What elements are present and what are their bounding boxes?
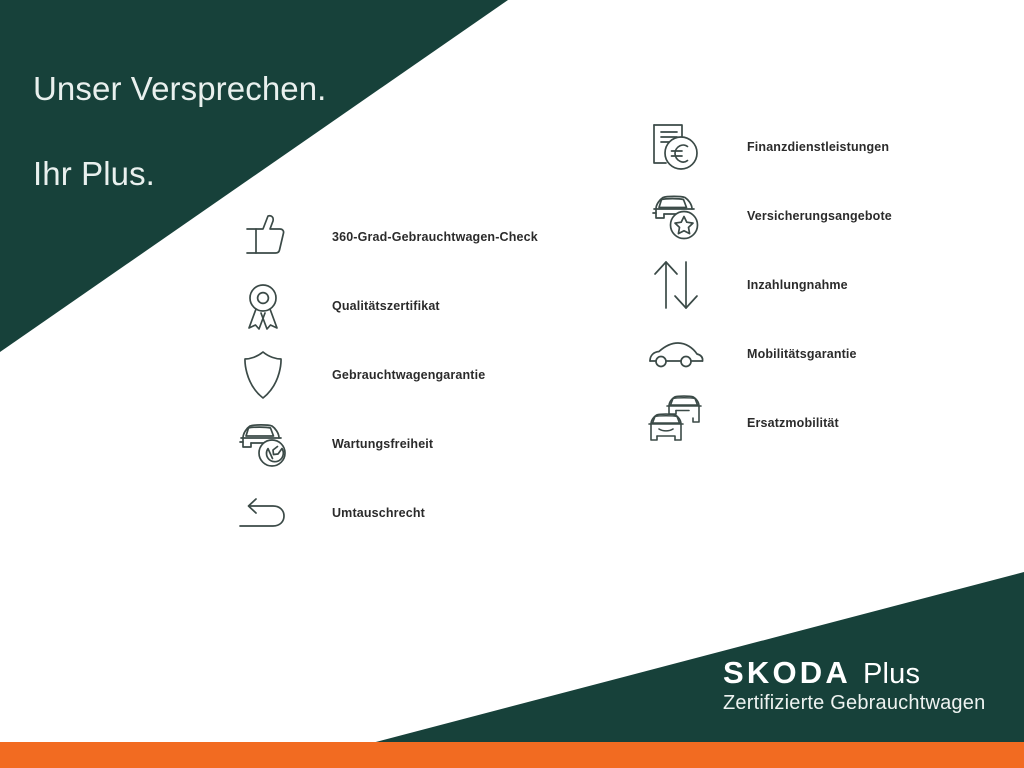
feature-item-warranty: Gebrauchtwagengarantie xyxy=(232,340,632,409)
headline-line-2: Ihr Plus. xyxy=(33,153,326,195)
feature-item-financial-services: Finanzdienstleistungen xyxy=(645,112,1015,181)
thumbs-up-icon xyxy=(232,206,294,268)
brand-suffix: Plus xyxy=(863,658,920,691)
feature-label: Umtauschrecht xyxy=(332,506,425,520)
u-turn-arrow-icon xyxy=(232,482,294,544)
up-down-arrows-icon xyxy=(645,254,707,316)
brand-tagline: Zertifizierte Gebrauchtwagen xyxy=(723,692,985,715)
feature-label: 360-Grad-Gebrauchtwagen-Check xyxy=(332,230,538,244)
feature-label: Mobilitätsgarantie xyxy=(747,347,857,361)
two-cars-icon xyxy=(645,392,707,454)
headline-line-1: Unser Versprechen. xyxy=(33,68,326,110)
feature-item-mobility-guarantee: Mobilitätsgarantie xyxy=(645,319,1015,388)
feature-item-quality-certificate: Qualitätszertifikat xyxy=(232,271,632,340)
feature-label: Finanzdienstleistungen xyxy=(747,140,889,154)
brand-lockup: SKODA Plus Zertifizierte Gebrauchtwagen xyxy=(723,655,985,715)
brand-wordmark: SKODA Plus xyxy=(723,655,985,691)
promo-banner: Unser Versprechen. Ihr Plus. 360-Grad-Ge… xyxy=(0,0,1024,768)
brand-name: SKODA xyxy=(723,655,851,691)
document-euro-icon xyxy=(645,116,707,178)
feature-label: Wartungsfreiheit xyxy=(332,437,433,451)
feature-item-insurance-offers: Versicherungsangebote xyxy=(645,181,1015,250)
feature-item-360-check: 360-Grad-Gebrauchtwagen-Check xyxy=(232,202,632,271)
feature-list-left: 360-Grad-Gebrauchtwagen-Check Qualitätsz… xyxy=(232,202,632,547)
feature-label: Versicherungsangebote xyxy=(747,209,892,223)
orange-accent-bar xyxy=(0,742,1024,768)
car-side-icon xyxy=(645,323,707,385)
feature-label: Ersatzmobilität xyxy=(747,416,839,430)
car-star-icon xyxy=(645,185,707,247)
green-bottom-wedge xyxy=(0,560,1024,744)
feature-item-maintenance-free: Wartungsfreiheit xyxy=(232,409,632,478)
feature-item-replacement-mobility: Ersatzmobilität xyxy=(645,388,1015,457)
shield-icon xyxy=(232,344,294,406)
feature-list-right: Finanzdienstleistungen Versicherungsange… xyxy=(645,112,1015,457)
car-wrench-icon xyxy=(232,413,294,475)
feature-label: Qualitätszertifikat xyxy=(332,299,440,313)
rosette-icon xyxy=(232,275,294,337)
feature-item-exchange-right: Umtauschrecht xyxy=(232,478,632,547)
feature-label: Inzahlungnahme xyxy=(747,278,848,292)
feature-label: Gebrauchtwagengarantie xyxy=(332,368,485,382)
feature-item-trade-in: Inzahlungnahme xyxy=(645,250,1015,319)
